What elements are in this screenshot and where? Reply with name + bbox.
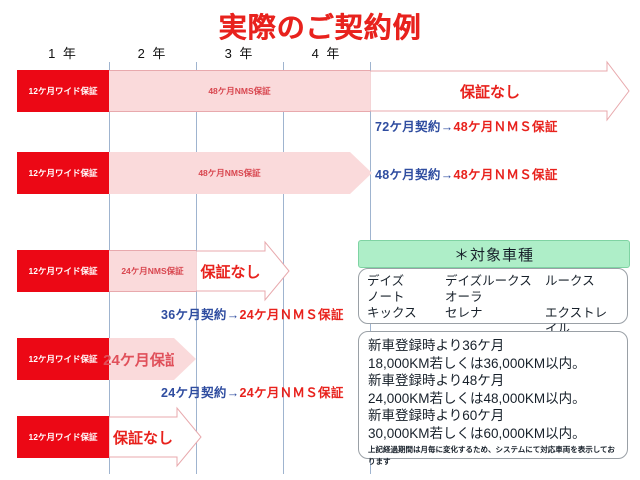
target-models-box: デイズ デイズルークス ルークス ノート オーラ キックス セレナ エクストレイ… bbox=[358, 268, 628, 324]
row3-annotation-contract: 36ケ月契約 bbox=[161, 308, 227, 322]
row1-annotation-result: 48ケ月ＮＭＳ保証 bbox=[454, 120, 558, 134]
row3-annotation-arrow: → bbox=[227, 308, 240, 322]
model-name: ルークス bbox=[545, 273, 619, 289]
row1-annotation-contract: 72ケ月契約 bbox=[375, 120, 441, 134]
row5-segment-wide-warranty-label: 12ケ月ワイド保証 bbox=[29, 431, 98, 443]
row3-annotation-result: 24ケ月ＮＭＳ保証 bbox=[240, 308, 344, 322]
terms-line: 24,000KM若しくは48,000KM以内。 bbox=[368, 390, 618, 408]
terms-line: 18,000KM若しくは36,000KM以内。 bbox=[368, 355, 618, 373]
axis-tick-year-4: 4 年 bbox=[283, 44, 370, 64]
axis-tick-year-2: 2 年 bbox=[109, 44, 196, 64]
axis-tick-year-1: 1 年 bbox=[17, 44, 109, 64]
row4-annotation-result: 24ケ月ＮＭＳ保証 bbox=[240, 386, 344, 400]
row4-annotation-contract: 24ケ月契約 bbox=[161, 386, 227, 400]
terms-line: 30,000KM若しくは60,000KM以内。 bbox=[368, 425, 618, 443]
target-models-header: ＊対象車種 bbox=[358, 240, 630, 268]
model-name bbox=[545, 289, 619, 305]
target-models-list: デイズ デイズルークス ルークス ノート オーラ キックス セレナ エクストレイ… bbox=[359, 269, 627, 323]
terms-line: 新車登録時より36ケ月 bbox=[368, 337, 618, 355]
row2-segment-wide-warranty-label: 12ケ月ワイド保証 bbox=[29, 167, 98, 179]
row4-segment-warranty: 24ケ月保証 bbox=[109, 338, 174, 380]
row2-segment-nms-warranty-label: 48ケ月NMS保証 bbox=[198, 167, 260, 179]
model-row: デイズ デイズルークス ルークス bbox=[367, 273, 619, 289]
target-models-header-label: ＊対象車種 bbox=[454, 244, 534, 265]
page-title: 実際のご契約例 bbox=[0, 6, 640, 46]
model-row: ノート オーラ bbox=[367, 289, 619, 305]
row3-annotation: 36ケ月契約→24ケ月ＮＭＳ保証 bbox=[161, 304, 344, 323]
slide-canvas: 実際のご契約例 1 年 2 年 3 年 4 年 12ケ月ワイド保証 48ケ月NM… bbox=[0, 0, 640, 480]
terms-line: 新車登録時より48ケ月 bbox=[368, 372, 618, 390]
model-name: オーラ bbox=[445, 289, 545, 305]
row1-segment-wide-warranty: 12ケ月ワイド保証 bbox=[17, 70, 109, 112]
row2-annotation-arrow: → bbox=[441, 168, 454, 182]
row1-segment-nms-warranty-label: 48ケ月NMS保証 bbox=[208, 85, 270, 97]
row2-segment-wide-warranty: 12ケ月ワイド保証 bbox=[17, 152, 109, 194]
row1-annotation: 72ケ月契約→48ケ月ＮＭＳ保証 bbox=[375, 116, 558, 135]
row3-segment-nms-warranty-label: 24ケ月NMS保証 bbox=[121, 265, 183, 277]
terms-footnote: 上記経過期間は月毎に変化するため、システムにて対応車両を表示しております bbox=[368, 444, 618, 468]
terms-conditions-list: 新車登録時より36ケ月 18,000KM若しくは36,000KM以内。 新車登録… bbox=[359, 332, 627, 458]
row5-segment-no-warranty-label: 保証なし bbox=[113, 427, 173, 448]
row1-annotation-arrow: → bbox=[441, 120, 454, 134]
row4-segment-wide-warranty: 12ケ月ワイド保証 bbox=[17, 338, 109, 380]
row5-segment-no-warranty: 保証なし bbox=[109, 416, 177, 458]
warranty-row-1: 12ケ月ワイド保証 48ケ月NMS保証 保証なし bbox=[17, 70, 630, 112]
row2-annotation-contract: 48ケ月契約 bbox=[375, 168, 441, 182]
model-name: デイズ bbox=[367, 273, 445, 289]
row2-annotation-result: 48ケ月ＮＭＳ保証 bbox=[454, 168, 558, 182]
model-name: デイズルークス bbox=[445, 273, 545, 289]
row1-segment-wide-warranty-label: 12ケ月ワイド保証 bbox=[29, 85, 98, 97]
row3-segment-no-warranty-label: 保証なし bbox=[200, 261, 260, 282]
row3-segment-nms-warranty: 24ケ月NMS保証 bbox=[109, 250, 196, 292]
row1-segment-no-warranty: 保証なし bbox=[370, 70, 610, 112]
row4-segment-warranty-label: 24ケ月保証 bbox=[103, 349, 180, 370]
row4-segment-wide-warranty-label: 12ケ月ワイド保証 bbox=[29, 353, 98, 365]
row4-annotation: 24ケ月契約→24ケ月ＮＭＳ保証 bbox=[161, 382, 344, 401]
row3-segment-no-warranty: 保証なし bbox=[196, 250, 265, 292]
axis-tick-year-3: 3 年 bbox=[196, 44, 283, 64]
row3-segment-wide-warranty-label: 12ケ月ワイド保証 bbox=[29, 265, 98, 277]
row5-segment-wide-warranty: 12ケ月ワイド保証 bbox=[17, 416, 109, 458]
row2-annotation: 48ケ月契約→48ケ月ＮＭＳ保証 bbox=[375, 164, 558, 183]
row1-segment-nms-warranty: 48ケ月NMS保証 bbox=[109, 70, 370, 112]
row3-segment-wide-warranty: 12ケ月ワイド保証 bbox=[17, 250, 109, 292]
terms-conditions-box: 新車登録時より36ケ月 18,000KM若しくは36,000KM以内。 新車登録… bbox=[358, 331, 628, 459]
row2-segment-nms-warranty: 48ケ月NMS保証 bbox=[109, 152, 350, 194]
terms-line: 新車登録時より60ケ月 bbox=[368, 407, 618, 425]
row1-segment-no-warranty-label: 保証なし bbox=[460, 81, 520, 102]
row2-arrowhead-icon bbox=[350, 152, 372, 194]
row4-annotation-arrow: → bbox=[227, 386, 240, 400]
row4-arrowhead-icon bbox=[174, 338, 196, 380]
model-name: ノート bbox=[367, 289, 445, 305]
